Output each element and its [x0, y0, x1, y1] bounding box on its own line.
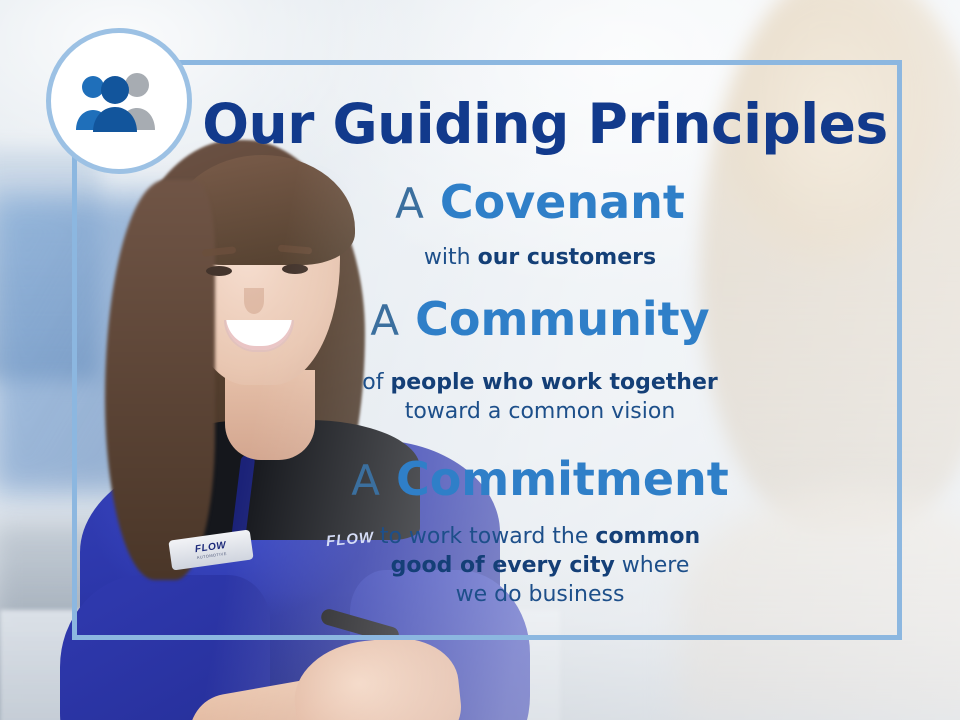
principle-2-article: A [370, 296, 399, 345]
principle-2-word: Community [415, 292, 709, 346]
principle-3-word: Commitment [396, 452, 729, 506]
principle-2-title: A Community [190, 295, 890, 343]
guiding-principles-graphic: FLOW AUTOMOTIVE FLOW Our Guiding Princip… [0, 0, 960, 720]
people-badge [46, 28, 192, 174]
principle-2-detail: of people who work together toward a com… [190, 368, 890, 426]
principle-1-title: A Covenant [190, 178, 890, 226]
principle-3-article: A [351, 456, 380, 505]
principle-3-detail: to work toward the common good of every … [190, 522, 890, 609]
principle-3-title: A Commitment [190, 455, 890, 503]
headline: Our Guiding Principles [200, 92, 890, 156]
principle-1-article: A [395, 179, 424, 228]
principle-1-word: Covenant [440, 175, 685, 229]
principle-1-detail: with our customers [190, 243, 890, 272]
people-group-icon [71, 68, 167, 134]
